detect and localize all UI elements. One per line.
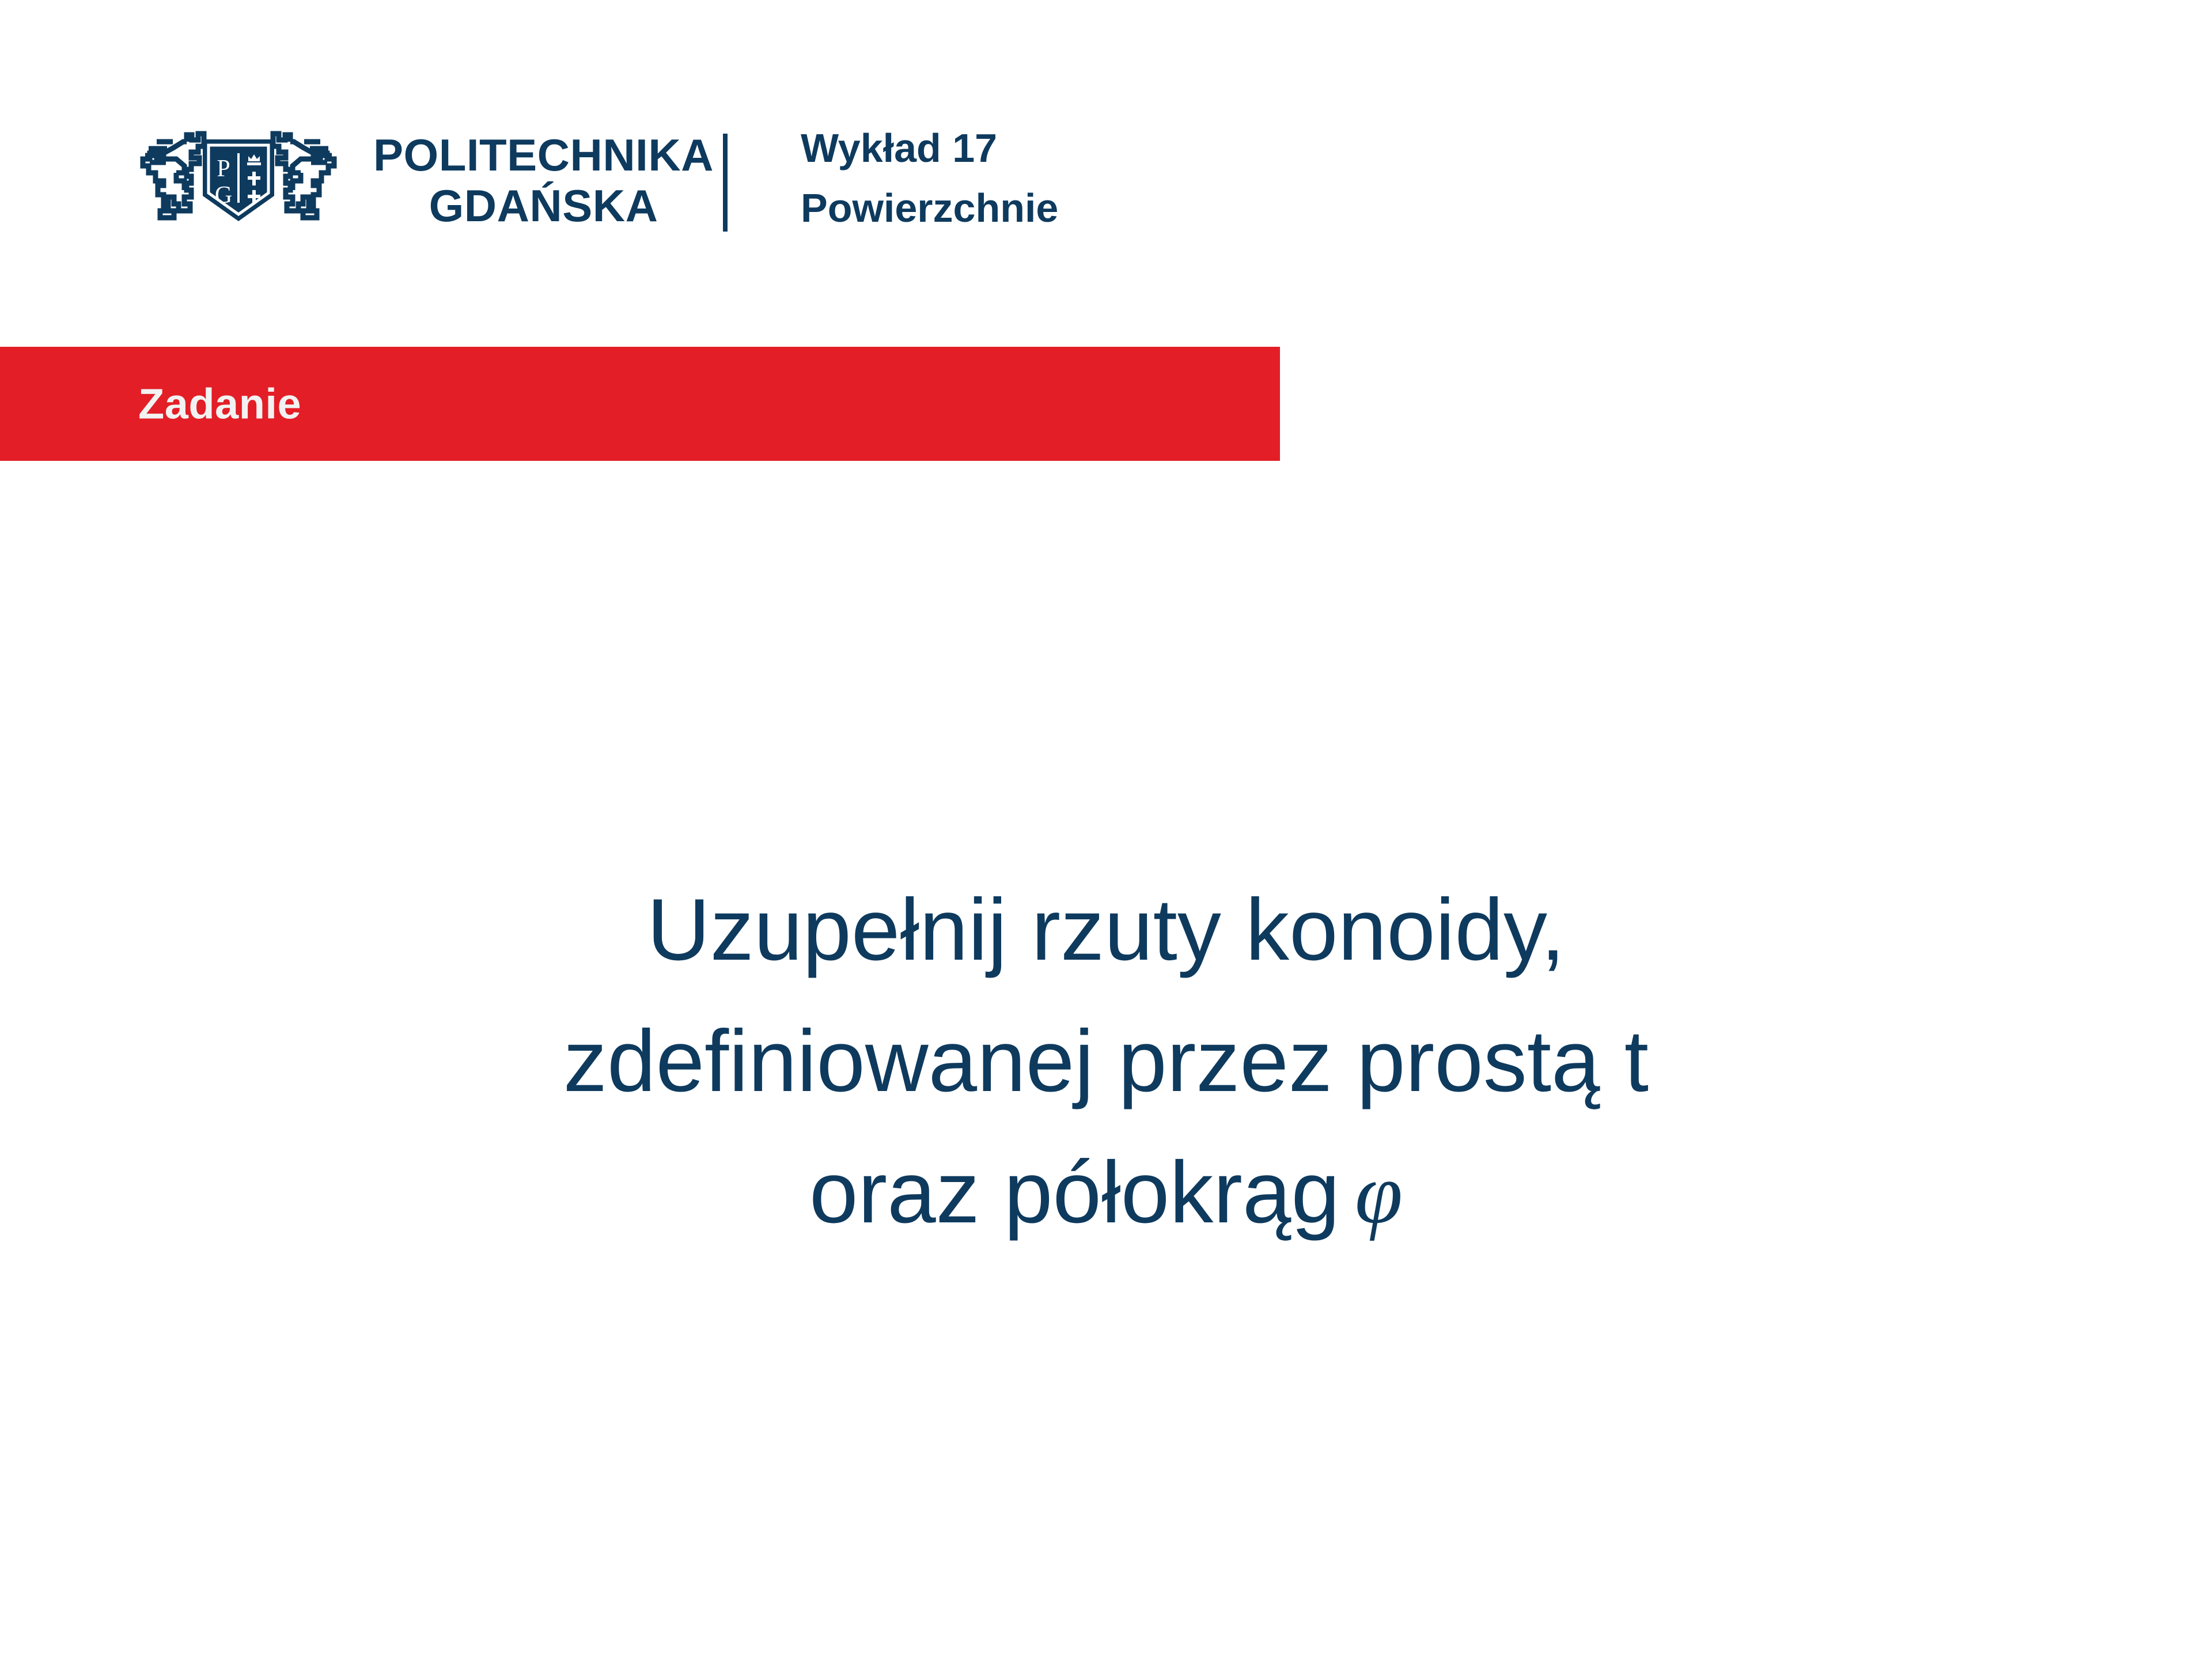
slide-header: P G POLITECHNIKA GDAŃSKA: [0, 0, 2212, 323]
section-banner: Zadanie: [0, 347, 1280, 461]
shield-letter-p: P: [217, 156, 230, 182]
task-statement: Uzupełnij rzuty konoidy, zdefiniowanej p…: [0, 864, 2212, 1259]
wordmark-line-2: GDAŃSKA: [373, 183, 714, 228]
university-wordmark: POLITECHNIKA GDAŃSKA: [373, 132, 714, 228]
section-banner-label: Zadanie: [138, 380, 301, 429]
lecture-topic: Powierzchnie: [801, 187, 1058, 230]
brand-lockup: P G POLITECHNIKA GDAŃSKA: [131, 126, 714, 235]
task-line-3: oraz półokrągφ: [0, 1127, 2212, 1259]
lecture-number: Wykład 17: [801, 127, 1058, 171]
task-line-1: Uzupełnij rzuty konoidy,: [0, 864, 2212, 995]
task-line-3-text: oraz półokrąg: [809, 1143, 1340, 1241]
lecture-title-block: Wykład 17 Powierzchnie: [801, 127, 1058, 230]
politechnika-gdanska-crest-icon: P G: [131, 126, 346, 235]
header-divider: [723, 134, 728, 232]
wordmark-line-1: POLITECHNIKA: [373, 132, 714, 177]
task-line-2: zdefiniowanej przez prostą t: [0, 995, 2212, 1127]
phi-symbol: φ: [1340, 1146, 1403, 1241]
shield-letter-g: G: [215, 182, 232, 209]
slide-root: P G POLITECHNIKA GDAŃSKA: [0, 0, 2212, 1659]
